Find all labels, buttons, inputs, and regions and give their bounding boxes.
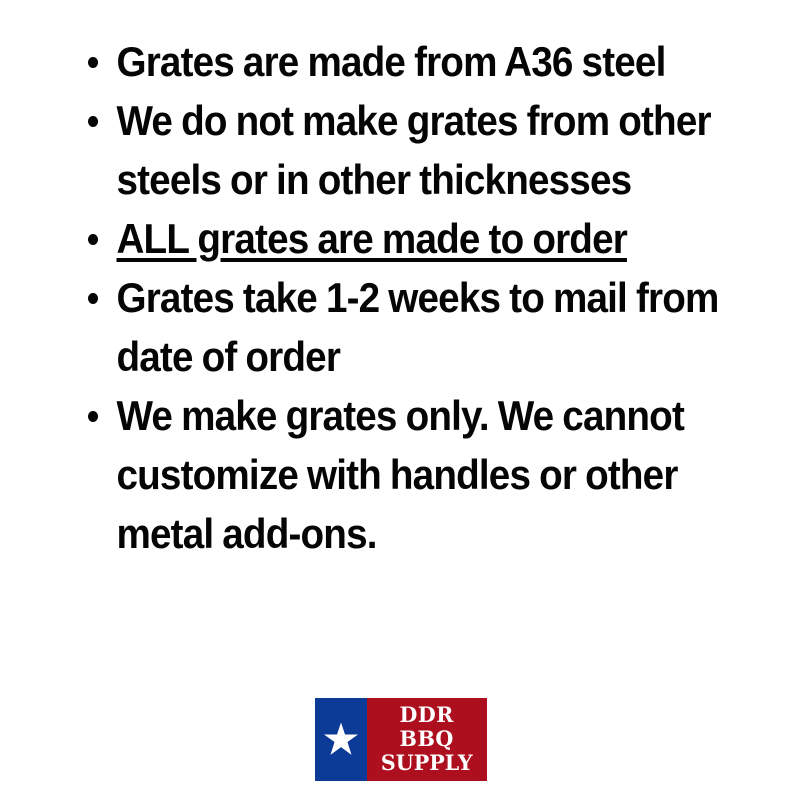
list-item-text: Grates are made from A36 steel: [116, 38, 665, 85]
logo-line-supply: SUPPLY: [381, 751, 473, 775]
logo-red-panel: DDR BBQ SUPPLY: [367, 698, 487, 781]
logo-line-bbq: BBQ: [400, 727, 454, 751]
page-root: Grates are made from A36 steel We do not…: [0, 0, 800, 800]
list-item-text: ALL grates are made to order: [116, 215, 626, 262]
list-item: We do not make grates from other steels …: [76, 91, 720, 209]
list-item-text: We do not make grates from other steels …: [116, 97, 710, 203]
list-item: ALL grates are made to order: [76, 209, 720, 268]
logo-blue-panel: [315, 698, 367, 781]
list-item-text: We make grates only. We cannot customize…: [116, 392, 684, 557]
star-icon: [324, 723, 358, 757]
list-item: Grates are made from A36 steel: [76, 32, 720, 91]
policy-bullet-list: Grates are made from A36 steel We do not…: [76, 32, 776, 563]
list-item: Grates take 1-2 weeks to mail from date …: [76, 268, 720, 386]
list-item: We make grates only. We cannot customize…: [76, 386, 720, 563]
list-item-text: Grates take 1-2 weeks to mail from date …: [116, 274, 718, 380]
logo-line-ddr: DDR: [400, 703, 454, 727]
brand-logo: DDR BBQ SUPPLY: [315, 698, 487, 781]
